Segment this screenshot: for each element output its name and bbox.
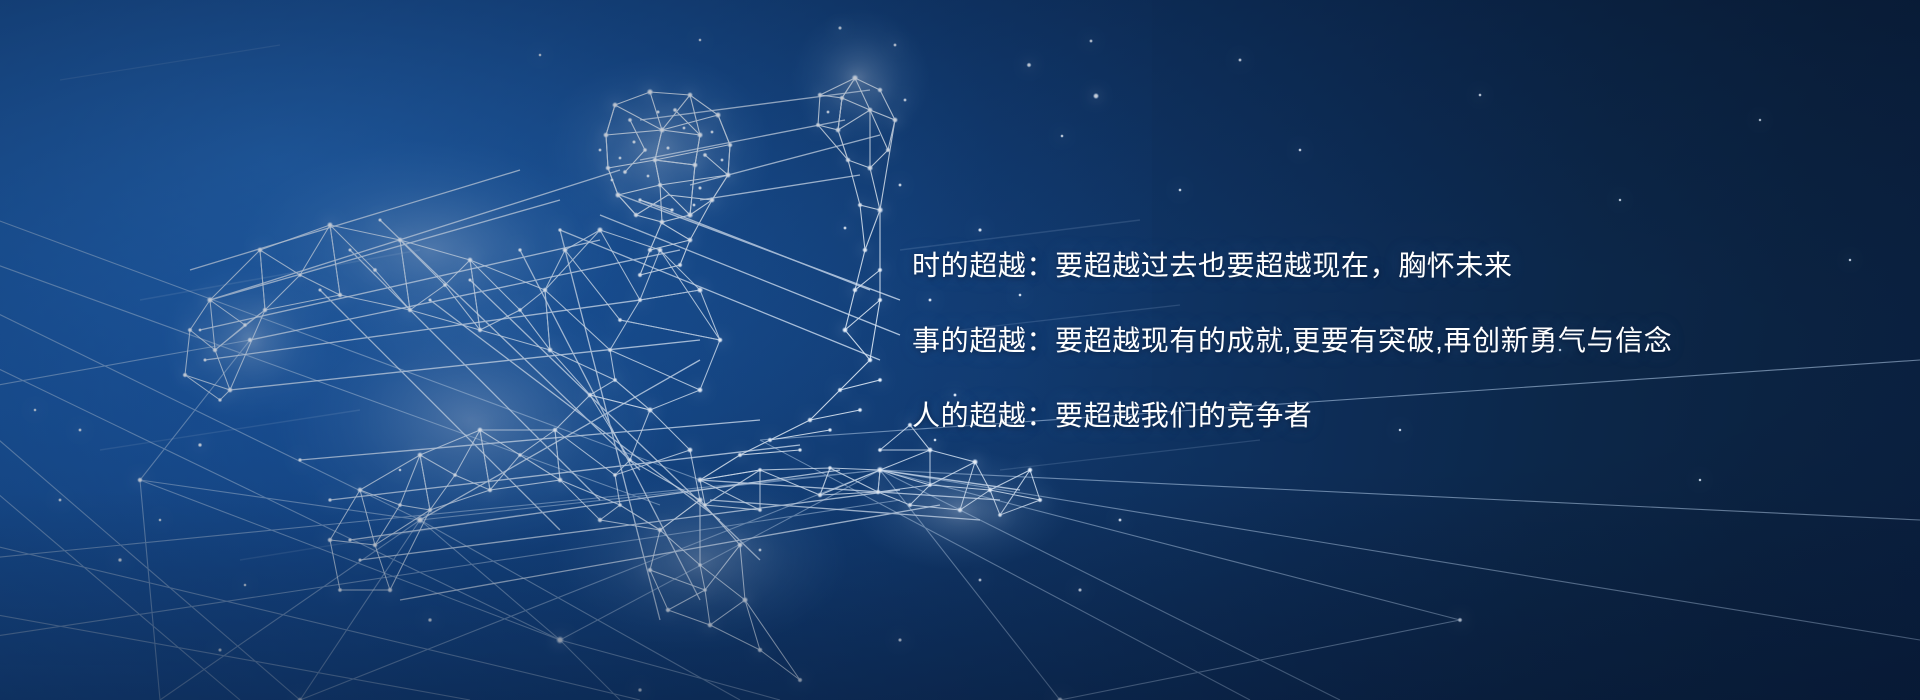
hero-banner: 时的超越：要超越过去也要超越现在，胸怀未来 事的超越：要超越现有的成就,更要有突… bbox=[0, 0, 1920, 700]
slogan-line-people: 人的超越：要超越我们的竞争者 bbox=[912, 378, 1812, 453]
slogan-text-block: 时的超越：要超越过去也要超越现在，胸怀未来 事的超越：要超越现有的成就,更要有突… bbox=[912, 228, 1812, 453]
slogan-line-matter: 事的超越：要超越现有的成就,更要有突破,再创新勇气与信念 bbox=[912, 303, 1812, 378]
slogan-line-time: 时的超越：要超越过去也要超越现在，胸怀未来 bbox=[912, 228, 1812, 303]
